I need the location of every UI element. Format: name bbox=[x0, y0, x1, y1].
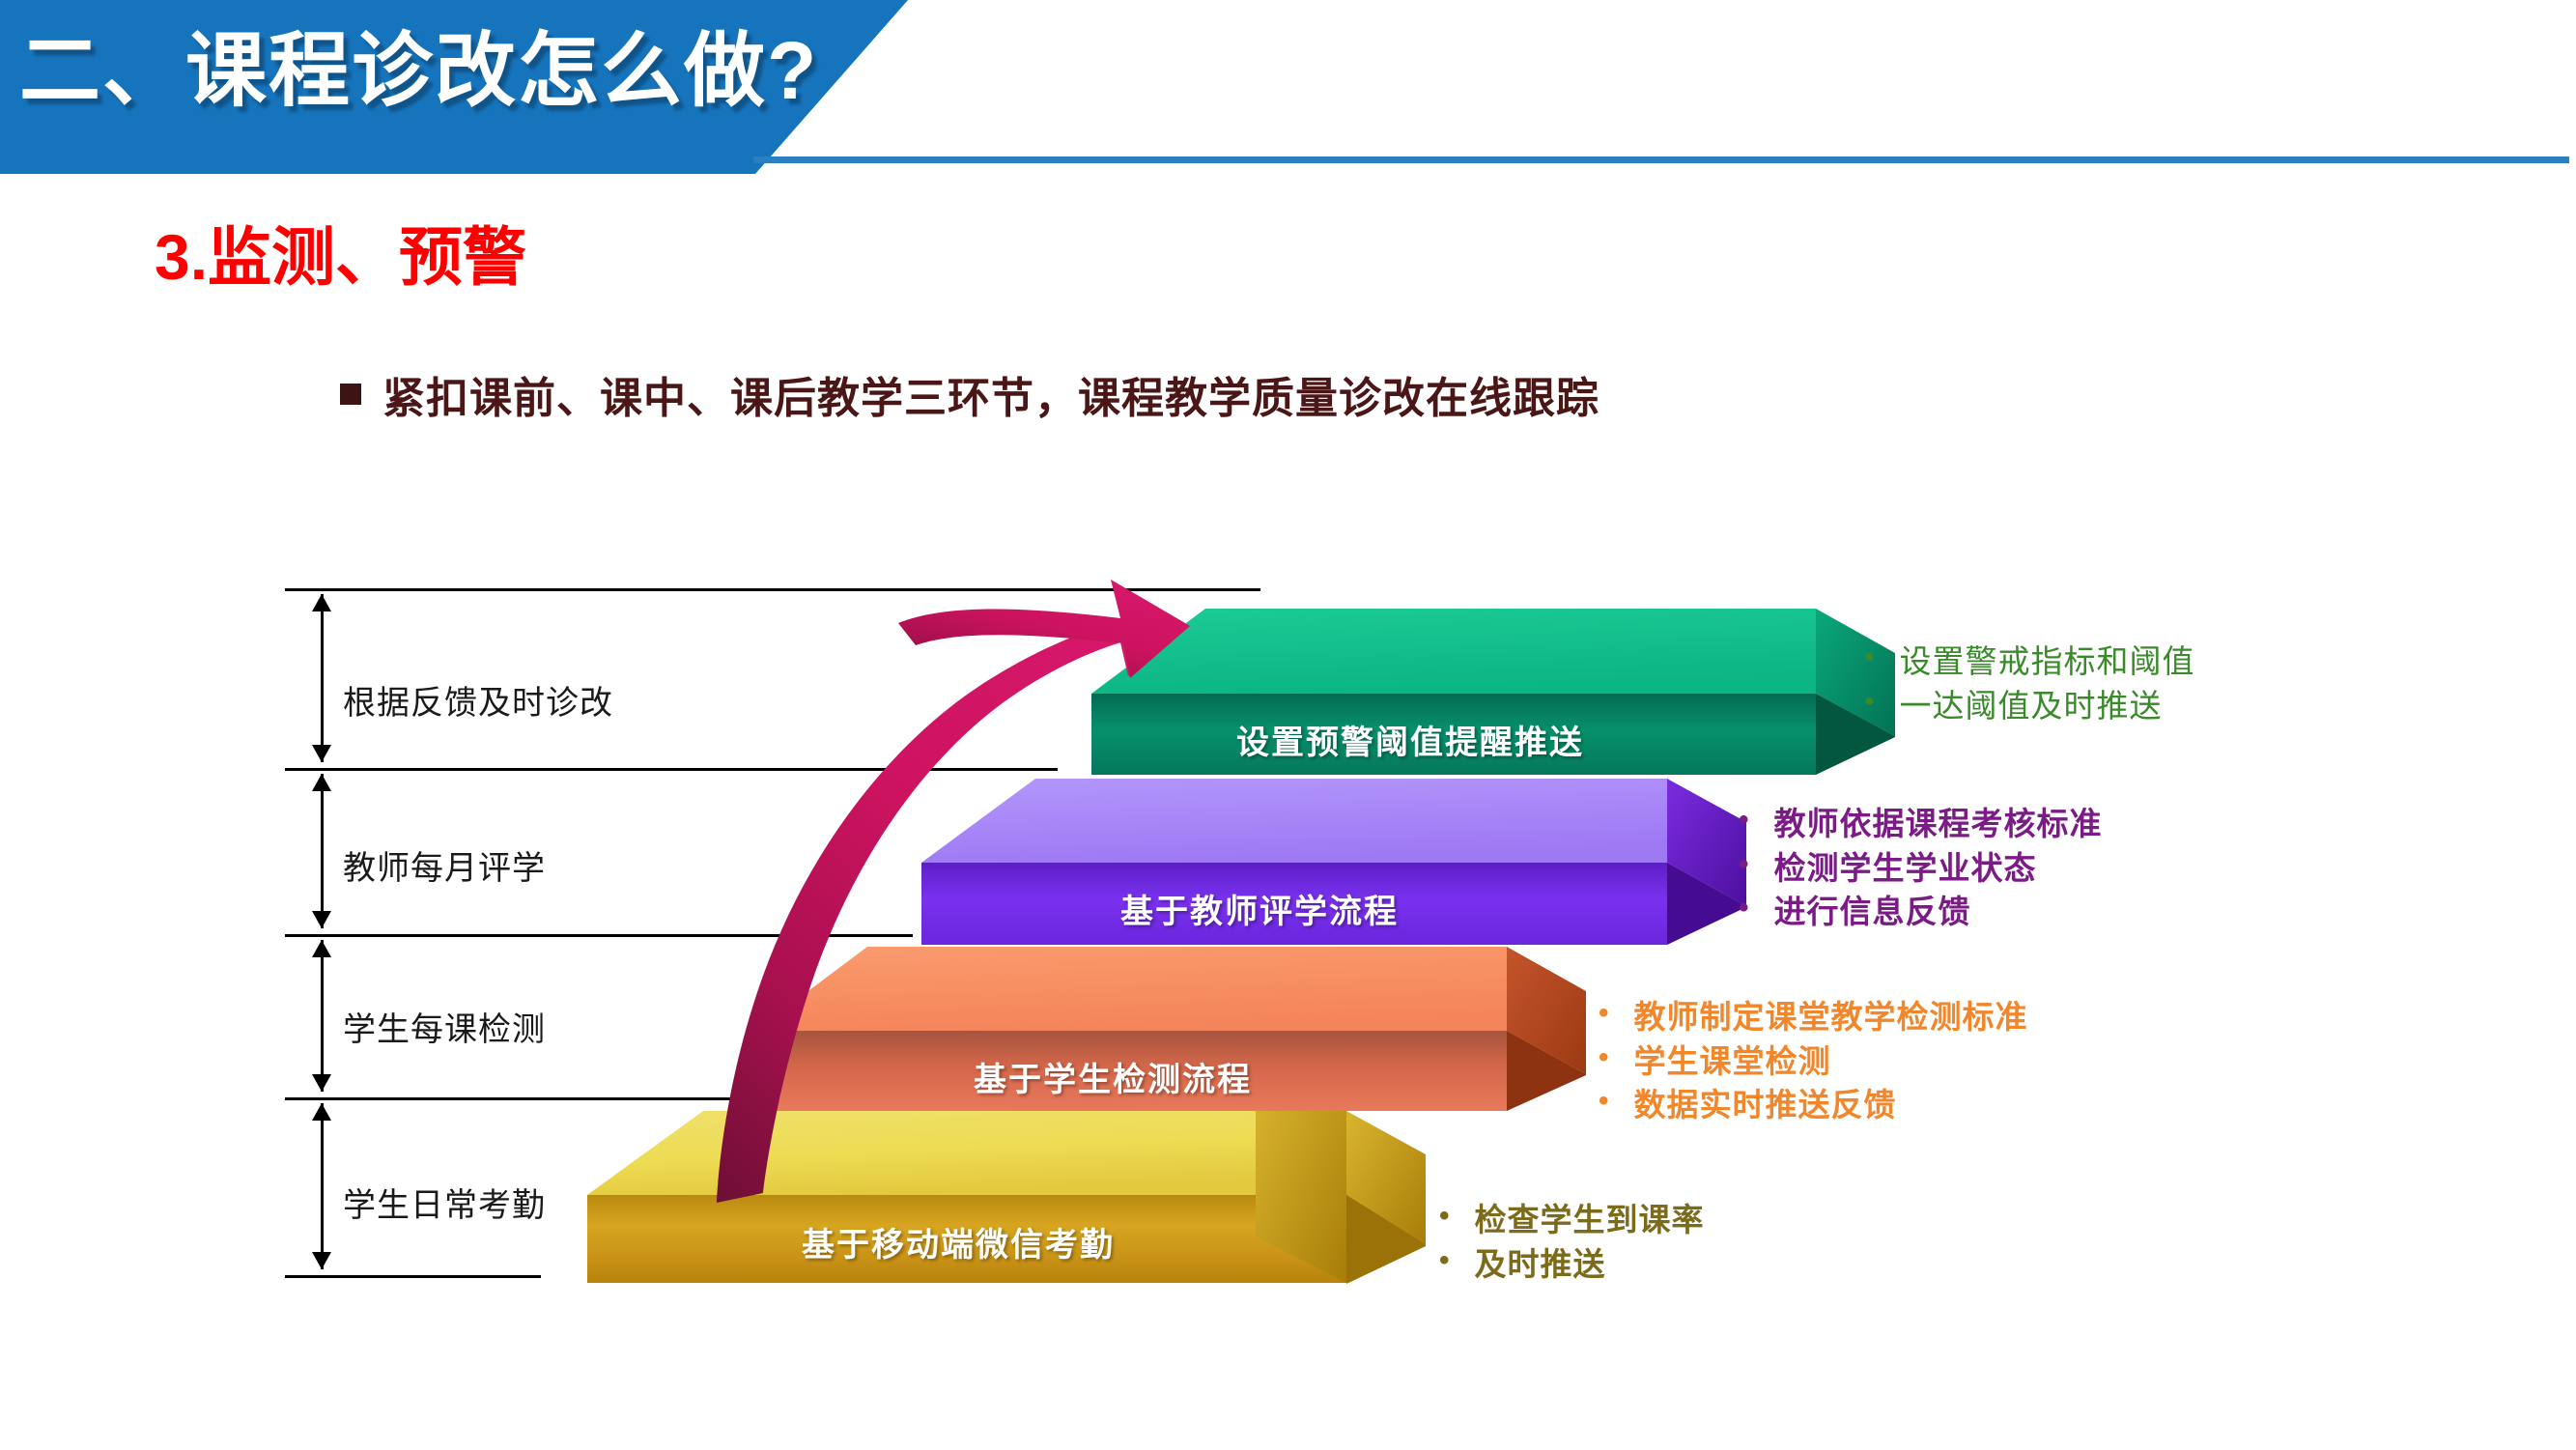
axis-label-3: 学生每课检测 bbox=[343, 1003, 546, 1050]
annotation-text: 及时推送 bbox=[1475, 1242, 1606, 1287]
annotation-item: • 学生课堂检测 bbox=[1599, 1039, 2028, 1084]
subtitle-bullet-row: 紧扣课前、课中、课后教学三环节，课程教学质量诊改在线跟踪 bbox=[340, 363, 1599, 425]
header-underline bbox=[97, 166, 657, 173]
axis-label-2: 教师每月评学 bbox=[343, 841, 546, 889]
annotation-item: • 检测学生学业状态 bbox=[1739, 846, 2103, 891]
axis-arrow-4 bbox=[321, 1103, 324, 1269]
annotation-item: • 数据实时推送反馈 bbox=[1599, 1083, 2028, 1127]
header-horizontal-rule bbox=[753, 156, 2569, 163]
bullet-dot-icon: • bbox=[1864, 684, 1875, 721]
axis-divider-1 bbox=[285, 768, 1058, 771]
annotation-item: • 教师制定课堂教学检测标准 bbox=[1599, 995, 2028, 1039]
annotation-group-olive: • 检查学生到课率 • 及时推送 bbox=[1439, 1198, 1705, 1286]
bullet-dot-icon: • bbox=[1739, 846, 1749, 883]
bullet-dot-icon: • bbox=[1439, 1198, 1450, 1235]
annotation-group-orange: • 教师制定课堂教学检测标准 • 学生课堂检测 • 数据实时推送反馈 bbox=[1599, 995, 2028, 1127]
axis-label-4: 学生日常考勤 bbox=[343, 1179, 546, 1226]
annotation-text: 数据实时推送反馈 bbox=[1634, 1083, 1897, 1127]
annotation-text: 学生课堂检测 bbox=[1634, 1039, 1831, 1084]
subtitle-text: 紧扣课前、课中、课后教学三环节，课程教学质量诊改在线跟踪 bbox=[382, 363, 1599, 425]
annotation-text: 检查学生到课率 bbox=[1475, 1198, 1705, 1242]
annotation-item: • 设置警戒指标和阈值 bbox=[1864, 640, 2195, 684]
step-label-warning-threshold: 设置预警阈值提醒推送 bbox=[1236, 716, 1584, 763]
bullet-dot-icon: • bbox=[1739, 890, 1749, 926]
annotation-item: • 及时推送 bbox=[1439, 1242, 1705, 1287]
axis-divider-2 bbox=[285, 934, 913, 937]
step-label-attendance: 基于移动端微信考勤 bbox=[802, 1218, 1115, 1265]
axis-label-1: 根据反馈及时诊改 bbox=[343, 676, 613, 724]
step-label-teacher-eval: 基于教师评学流程 bbox=[1120, 885, 1399, 932]
bullet-dot-icon: • bbox=[1599, 1039, 1609, 1076]
slide-canvas: 二、课程诊改怎么做? 3.监测、预警 紧扣课前、课中、课后教学三环节，课程教学质… bbox=[0, 0, 2576, 1450]
bullet-dot-icon: • bbox=[1739, 802, 1749, 839]
axis-arrow-2 bbox=[321, 774, 324, 928]
annotation-group-purple: • 教师依据课程考核标准 • 检测学生学业状态 • 进行信息反馈 bbox=[1739, 802, 2103, 934]
annotation-group-green: • 设置警戒指标和阈值 • 一达阈值及时推送 bbox=[1864, 640, 2195, 727]
bullet-dot-icon: • bbox=[1864, 640, 1875, 676]
square-bullet-icon bbox=[340, 384, 361, 405]
annotation-item: • 检查学生到课率 bbox=[1439, 1198, 1705, 1242]
growth-arrow-icon bbox=[717, 580, 1190, 1203]
axis-divider-top bbox=[285, 588, 1260, 591]
axis-arrow-3 bbox=[321, 940, 324, 1092]
bullet-dot-icon: • bbox=[1599, 995, 1609, 1032]
annotation-text: 教师依据课程考核标准 bbox=[1774, 802, 2103, 846]
annotation-item: • 进行信息反馈 bbox=[1739, 890, 2103, 934]
annotation-text: 教师制定课堂教学检测标准 bbox=[1634, 995, 2028, 1039]
bullet-dot-icon: • bbox=[1599, 1083, 1609, 1120]
bullet-dot-icon: • bbox=[1439, 1242, 1450, 1279]
page-title: 3.监测、预警 bbox=[155, 206, 526, 299]
step-label-student-testing: 基于学生检测流程 bbox=[974, 1053, 1252, 1100]
annotation-text: 检测学生学业状态 bbox=[1774, 846, 2037, 891]
annotation-item: • 教师依据课程考核标准 bbox=[1739, 802, 2103, 846]
annotation-item: • 一达阈值及时推送 bbox=[1864, 684, 2195, 728]
annotation-text: 设置警戒指标和阈值 bbox=[1900, 640, 2195, 684]
axis-arrow-1 bbox=[321, 594, 324, 762]
header-title: 二、课程诊改怎么做? bbox=[19, 6, 818, 123]
axis-divider-3 bbox=[285, 1097, 758, 1100]
axis-divider-bottom bbox=[285, 1275, 541, 1278]
annotation-text: 一达阈值及时推送 bbox=[1900, 684, 2163, 728]
annotation-text: 进行信息反馈 bbox=[1774, 890, 1971, 934]
